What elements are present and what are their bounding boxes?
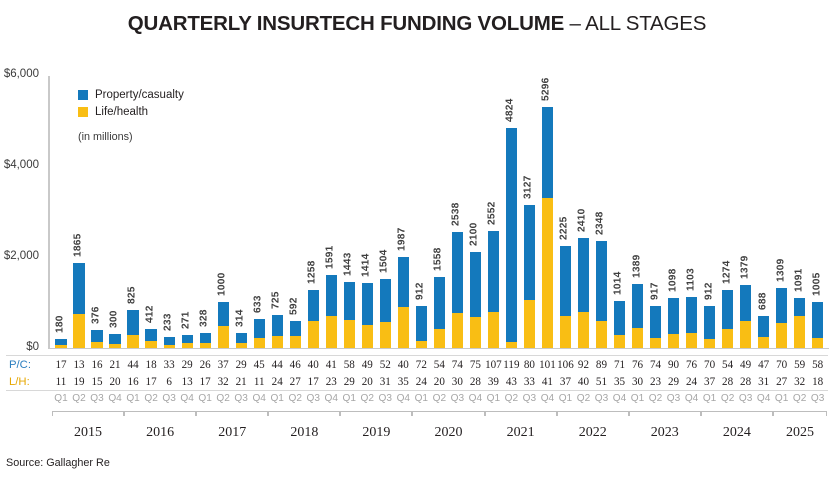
year-group: 2017: [196, 411, 268, 445]
deal-count-cell-lh: 35: [610, 376, 628, 388]
bar-slot[interactable]: 2225: [556, 77, 574, 348]
deal-count-cell-lh: 40: [574, 376, 592, 388]
stacked-bar[interactable]: 328: [200, 333, 211, 348]
bar-slot[interactable]: 314: [232, 77, 250, 348]
bar-segment-life-health[interactable]: [740, 321, 751, 347]
bar-segment-property-casualty[interactable]: [434, 277, 445, 329]
bar-slot[interactable]: 2410: [574, 77, 592, 348]
deal-count-cell-pc: 119: [502, 359, 520, 371]
quarter-tick-label: Q1: [412, 393, 430, 404]
stacked-bar[interactable]: 1379: [740, 285, 751, 348]
bar-segment-life-health[interactable]: [812, 338, 823, 348]
quarter-tick-label: Q2: [647, 393, 665, 404]
year-label: 2024: [723, 425, 751, 445]
quarter-tick-label: Q4: [538, 393, 556, 404]
bar-segment-life-health[interactable]: [794, 316, 805, 347]
bar-segment-life-health[interactable]: [416, 341, 427, 348]
stacked-bar[interactable]: 688: [758, 316, 769, 347]
bar-slot[interactable]: 1987: [394, 77, 412, 348]
legend-item-property-casualty: Property/casualty: [78, 86, 184, 103]
deal-count-cell-pc: 37: [214, 359, 232, 371]
bar-value-label: 1591: [325, 246, 336, 269]
bar-segment-life-health[interactable]: [127, 335, 138, 347]
bar-segment-life-health[interactable]: [722, 329, 733, 347]
deal-count-cell-pc: 45: [250, 359, 268, 371]
bar-slot[interactable]: 1309: [773, 77, 791, 348]
deal-count-cell-lh: 30: [629, 376, 647, 388]
stacked-bar[interactable]: 1389: [632, 284, 643, 347]
bar-segment-property-casualty[interactable]: [416, 306, 427, 341]
bar-slot[interactable]: 2538: [448, 77, 466, 348]
legend-item-life-health: Life/health: [78, 103, 184, 120]
quarter-tick-label: Q3: [232, 393, 250, 404]
deal-count-cell-pc: 18: [142, 359, 160, 371]
deal-count-cell-lh: 18: [809, 376, 827, 388]
stacked-bar[interactable]: 1091: [794, 298, 805, 348]
bar-segment-life-health[interactable]: [650, 338, 661, 348]
bar-segment-property-casualty[interactable]: [722, 290, 733, 330]
stacked-bar[interactable]: 3127: [524, 205, 535, 347]
y-tick-label: $4,000: [0, 159, 39, 171]
deal-count-cell-lh: 33: [520, 376, 538, 388]
bar-segment-life-health[interactable]: [632, 328, 643, 348]
stacked-bar[interactable]: 4824: [506, 128, 517, 347]
quarter-tick-label: Q3: [160, 393, 178, 404]
year-label: 2015: [74, 425, 102, 445]
bar-slot[interactable]: 5296: [538, 77, 556, 348]
bar-segment-life-health[interactable]: [578, 312, 589, 347]
bar-value-label: 1098: [667, 268, 678, 291]
year-label: 2023: [651, 425, 679, 445]
bar-segment-life-health[interactable]: [434, 329, 445, 348]
bar-segment-life-health[interactable]: [272, 336, 283, 347]
bar-segment-life-health[interactable]: [524, 300, 535, 347]
year-label: 2022: [579, 425, 607, 445]
stacked-bar[interactable]: 300: [109, 334, 120, 348]
bar-segment-property-casualty[interactable]: [145, 329, 156, 341]
bar-segment-property-casualty[interactable]: [812, 302, 823, 338]
bar-value-label: 1091: [793, 268, 804, 291]
bar-segment-property-casualty[interactable]: [506, 128, 517, 342]
y-axis-line: [48, 76, 50, 349]
deal-count-cell-pc: 71: [610, 359, 628, 371]
bar-segment-life-health[interactable]: [236, 343, 247, 348]
bar-slot[interactable]: 1414: [358, 77, 376, 348]
bar-segment-life-health[interactable]: [164, 345, 175, 348]
stacked-bar[interactable]: 2552: [488, 231, 499, 347]
bar-segment-life-health[interactable]: [398, 307, 409, 347]
bar-segment-property-casualty[interactable]: [794, 298, 805, 316]
deal-count-cell-pc: 46: [286, 359, 304, 371]
deal-count-cell-pc: 58: [809, 359, 827, 371]
quarter-tick-label: Q4: [466, 393, 484, 404]
bar-segment-property-casualty[interactable]: [236, 333, 247, 343]
bar-segment-life-health[interactable]: [55, 345, 66, 348]
bar-segment-property-casualty[interactable]: [272, 315, 283, 337]
quarter-tick-label: Q2: [502, 393, 520, 404]
bar-segment-property-casualty[interactable]: [704, 306, 715, 339]
bar-segment-property-casualty[interactable]: [632, 284, 643, 328]
bar-value-label: 1005: [811, 272, 822, 295]
title-light: ALL STAGES: [585, 12, 706, 35]
bar-segment-life-health[interactable]: [200, 343, 211, 347]
stacked-bar[interactable]: 1591: [326, 275, 337, 347]
bar-segment-property-casualty[interactable]: [668, 298, 679, 335]
bar-segment-life-health[interactable]: [776, 323, 787, 347]
stacked-bar[interactable]: 1258: [308, 290, 319, 347]
bar-segment-life-health[interactable]: [91, 342, 102, 347]
bar-value-label: 1414: [361, 254, 372, 277]
bar-slot[interactable]: 1389: [629, 77, 647, 348]
stacked-bar[interactable]: 912: [704, 306, 715, 347]
deal-count-cell-pc: 59: [791, 359, 809, 371]
bar-slot[interactable]: 3127: [520, 77, 538, 348]
stacked-bar[interactable]: 1558: [434, 277, 445, 348]
bar-value-label: 1103: [685, 268, 696, 291]
row-label-pc: P/C:: [9, 359, 53, 371]
page-title: QUARTERLY INSURTECH FUNDING VOLUME – ALL…: [0, 12, 834, 36]
deal-count-cell-pc: 49: [737, 359, 755, 371]
bar-value-label: 4824: [505, 99, 516, 122]
deal-count-cell-lh: 30: [448, 376, 466, 388]
bar-slot[interactable]: 917: [647, 77, 665, 348]
bar-segment-property-casualty[interactable]: [109, 334, 120, 344]
bar-slot[interactable]: 4824: [502, 77, 520, 348]
bar-slot[interactable]: 2348: [592, 77, 610, 348]
bar-segment-property-casualty[interactable]: [452, 232, 463, 313]
bar-segment-life-health[interactable]: [596, 321, 607, 348]
x-axis-quarter-labels: Q1Q2Q3Q4Q1Q2Q3Q4Q1Q2Q3Q4Q1Q2Q3Q4Q1Q2Q3Q4…: [52, 393, 827, 404]
bar-segment-life-health[interactable]: [614, 335, 625, 348]
bar-value-label: 2552: [487, 202, 498, 225]
bar-segment-property-casualty[interactable]: [614, 301, 625, 334]
x-axis-baseline: [48, 348, 829, 350]
quarter-tick-label: Q2: [214, 393, 232, 404]
bar-slot[interactable]: 2552: [484, 77, 502, 348]
bar-segment-property-casualty[interactable]: [686, 297, 697, 333]
bar-slot[interactable]: 1504: [376, 77, 394, 348]
bar-slot[interactable]: 1258: [304, 77, 322, 348]
deal-count-cell-pc: 76: [683, 359, 701, 371]
stacked-bar[interactable]: 412: [145, 329, 156, 348]
stacked-bar[interactable]: 1309: [776, 288, 787, 348]
bar-segment-property-casualty[interactable]: [380, 279, 391, 322]
bar-segment-property-casualty[interactable]: [164, 337, 175, 345]
bar-value-label: 1000: [217, 273, 228, 296]
deal-count-cell-pc: 40: [304, 359, 322, 371]
bar-slot[interactable]: 725: [268, 77, 286, 348]
deal-count-cell-lh: 6: [160, 376, 178, 388]
deal-count-cell-pc: 16: [88, 359, 106, 371]
stacked-bar[interactable]: 180: [55, 339, 66, 347]
deal-count-cell-lh: 28: [719, 376, 737, 388]
quarter-tick-label: Q2: [430, 393, 448, 404]
title-bold: QUARTERLY INSURTECH FUNDING VOLUME: [128, 12, 564, 35]
bar-segment-property-casualty[interactable]: [488, 231, 499, 312]
bar-segment-property-casualty[interactable]: [73, 263, 84, 314]
bar-slot[interactable]: 633: [250, 77, 268, 348]
bar-segment-property-casualty[interactable]: [127, 310, 138, 335]
title-dash: –: [564, 12, 585, 35]
stacked-bar[interactable]: 2100: [470, 252, 481, 348]
bar-segment-life-health[interactable]: [254, 338, 265, 348]
bar-segment-life-health[interactable]: [542, 198, 553, 348]
legend-swatch-blue-icon: [78, 90, 88, 100]
bar-segment-property-casualty[interactable]: [542, 107, 553, 198]
deal-count-cell-pc: 47: [755, 359, 773, 371]
quarter-tick-label: Q1: [556, 393, 574, 404]
bar-segment-property-casualty[interactable]: [560, 246, 571, 316]
source-note: Source: Gallagher Re: [6, 457, 110, 469]
quarter-tick-label: Q2: [719, 393, 737, 404]
stacked-bar[interactable]: 2410: [578, 238, 589, 348]
bar-segment-property-casualty[interactable]: [200, 333, 211, 344]
quarter-tick-label: Q4: [178, 393, 196, 404]
bar-value-label: 2410: [577, 208, 588, 231]
bar-value-label: 825: [127, 286, 138, 304]
stacked-bar[interactable]: 912: [416, 306, 427, 347]
stacked-bar[interactable]: 2538: [452, 232, 463, 347]
bar-segment-property-casualty[interactable]: [578, 238, 589, 313]
deal-count-cell-pc: 90: [665, 359, 683, 371]
stacked-bar[interactable]: 233: [164, 337, 175, 348]
bar-segment-life-health[interactable]: [704, 339, 715, 348]
bar-segment-life-health[interactable]: [452, 313, 463, 347]
deal-count-cell-pc: 75: [466, 359, 484, 371]
stacked-bar[interactable]: 1014: [614, 301, 625, 347]
bar-slot[interactable]: 592: [286, 77, 304, 348]
stacked-bar[interactable]: 1443: [344, 282, 355, 348]
stacked-bar[interactable]: 5296: [542, 107, 553, 348]
bar-value-label: 2538: [451, 203, 462, 226]
bar-value-label: 376: [91, 307, 102, 325]
deal-count-cell-pc: 33: [160, 359, 178, 371]
bar-segment-property-casualty[interactable]: [758, 316, 769, 337]
bar-segment-life-health[interactable]: [506, 342, 517, 347]
bar-segment-life-health[interactable]: [308, 321, 319, 347]
stacked-bar[interactable]: 725: [272, 315, 283, 348]
deal-count-cell-lh: 24: [683, 376, 701, 388]
bar-segment-property-casualty[interactable]: [362, 283, 373, 325]
stacked-bar[interactable]: 1005: [812, 302, 823, 348]
bar-value-label: 1389: [631, 255, 642, 278]
year-label: 2017: [218, 425, 246, 445]
quarter-tick-label: Q2: [791, 393, 809, 404]
deal-count-cell-lh: 17: [142, 376, 160, 388]
bar-segment-life-health[interactable]: [362, 325, 373, 347]
deal-count-cell-lh: 15: [88, 376, 106, 388]
bar-value-label: 2348: [595, 211, 606, 234]
deal-count-cell-pc: 21: [106, 359, 124, 371]
bar-segment-property-casualty[interactable]: [740, 285, 751, 321]
quarter-tick-label: Q4: [322, 393, 340, 404]
quarter-tick-label: Q3: [809, 393, 827, 404]
stacked-bar[interactable]: 1865: [73, 263, 84, 348]
stacked-bar[interactable]: 2348: [596, 241, 607, 348]
deal-count-cell-lh: 32: [791, 376, 809, 388]
year-label: 2019: [362, 425, 390, 445]
row-cells-lh: 1119152016176131732211124271723292031352…: [52, 376, 827, 388]
bar-segment-property-casualty[interactable]: [344, 282, 355, 320]
bar-slot[interactable]: 912: [701, 77, 719, 348]
bar-slot[interactable]: 1379: [737, 77, 755, 348]
bar-segment-property-casualty[interactable]: [91, 330, 102, 342]
bar-segment-life-health[interactable]: [758, 337, 769, 347]
bar-segment-property-casualty[interactable]: [254, 319, 265, 338]
table-row-life-health: L/H: 11191520161761317322111242717232920…: [0, 373, 834, 390]
deal-count-cell-pc: 44: [268, 359, 286, 371]
bar-segment-life-health[interactable]: [380, 322, 391, 347]
bar-segment-life-health[interactable]: [218, 326, 229, 347]
bar-segment-life-health[interactable]: [488, 312, 499, 348]
deal-count-cell-lh: 24: [412, 376, 430, 388]
bar-segment-property-casualty[interactable]: [326, 275, 337, 315]
stacked-bar[interactable]: 314: [236, 333, 247, 347]
deal-count-cell-pc: 17: [52, 359, 70, 371]
bar-value-label: 633: [253, 295, 264, 313]
stacked-bar[interactable]: 1103: [686, 297, 697, 347]
bar-value-label: 300: [109, 310, 120, 328]
bar-segment-property-casualty[interactable]: [596, 241, 607, 321]
bar-slot[interactable]: 1591: [322, 77, 340, 348]
stacked-bar[interactable]: 1098: [668, 298, 679, 348]
bar-segment-life-health[interactable]: [344, 320, 355, 347]
bar-slot[interactable]: 1103: [683, 77, 701, 348]
quarter-tick-label: Q3: [376, 393, 394, 404]
deal-count-cell-pc: 92: [574, 359, 592, 371]
quarter-tick-label: Q3: [448, 393, 466, 404]
bar-segment-life-health[interactable]: [73, 314, 84, 348]
bar-value-label: 725: [271, 291, 282, 309]
quarter-tick-label: Q2: [286, 393, 304, 404]
quarter-tick-label: Q2: [70, 393, 88, 404]
bar-segment-life-health[interactable]: [686, 333, 697, 347]
deal-count-cell-lh: 11: [52, 376, 70, 388]
stacked-bar[interactable]: 633: [254, 319, 265, 348]
deal-count-cell-lh: 23: [322, 376, 340, 388]
chart-page: QUARTERLY INSURTECH FUNDING VOLUME – ALL…: [0, 0, 834, 480]
bar-slot[interactable]: 328: [196, 77, 214, 348]
year-group: 2016: [124, 411, 196, 445]
bar-segment-property-casualty[interactable]: [182, 335, 193, 343]
deal-count-cell-lh: 24: [268, 376, 286, 388]
bar-slot[interactable]: 1000: [214, 77, 232, 348]
deal-count-cell-pc: 52: [376, 359, 394, 371]
deal-count-cell-lh: 17: [304, 376, 322, 388]
units-note: (in millions): [78, 131, 184, 143]
bar-segment-life-health[interactable]: [182, 343, 193, 347]
stacked-bar[interactable]: 825: [127, 310, 138, 348]
deal-count-cell-lh: 27: [773, 376, 791, 388]
deal-count-cell-lh: 20: [430, 376, 448, 388]
bar-segment-property-casualty[interactable]: [398, 257, 409, 307]
quarter-tick-label: Q3: [88, 393, 106, 404]
bar-slot[interactable]: 1558: [430, 77, 448, 348]
stacked-bar[interactable]: 1987: [398, 257, 409, 347]
quarter-tick-label: Q2: [142, 393, 160, 404]
deal-count-cell-lh: 23: [647, 376, 665, 388]
bar-segment-property-casualty[interactable]: [218, 302, 229, 326]
bar-slot[interactable]: 1091: [791, 77, 809, 348]
quarter-tick-label: Q3: [520, 393, 538, 404]
quarter-tick-label: Q1: [52, 393, 70, 404]
deal-count-table: P/C: 17131621441833292637294544464041584…: [0, 356, 834, 392]
bar-slot[interactable]: 1014: [610, 77, 628, 348]
bar-value-label: 917: [649, 282, 660, 300]
deal-count-cell-pc: 76: [629, 359, 647, 371]
bar-slot[interactable]: 1443: [340, 77, 358, 348]
bar-slot[interactable]: 912: [412, 77, 430, 348]
bar-value-label: 688: [757, 293, 768, 311]
legend-label-life-health: Life/health: [95, 106, 148, 118]
deal-count-cell-pc: 72: [412, 359, 430, 371]
bar-segment-property-casualty[interactable]: [650, 306, 661, 338]
bar-segment-property-casualty[interactable]: [470, 252, 481, 318]
stacked-bar[interactable]: 917: [650, 306, 661, 348]
stacked-bar[interactable]: 376: [91, 330, 102, 347]
bar-slot[interactable]: 1274: [719, 77, 737, 348]
table-row-property-casualty: P/C: 17131621441833292637294544464041584…: [0, 356, 834, 373]
bar-slot[interactable]: 1098: [665, 77, 683, 348]
bar-segment-property-casualty[interactable]: [308, 290, 319, 321]
bar-segment-property-casualty[interactable]: [776, 288, 787, 323]
bar-segment-life-health[interactable]: [290, 336, 301, 348]
stacked-bar[interactable]: 1504: [380, 279, 391, 347]
x-axis-year-groups: 2015201620172018201920202021202220232024…: [52, 411, 827, 445]
year-group: 2021: [485, 411, 557, 445]
year-group: 2024: [701, 411, 773, 445]
stacked-bar[interactable]: 1414: [362, 283, 373, 347]
bar-value-label: 1309: [775, 258, 786, 281]
deal-count-cell-lh: 28: [737, 376, 755, 388]
deal-count-cell-lh: 19: [70, 376, 88, 388]
year-group: 2015: [52, 411, 124, 445]
stacked-bar[interactable]: 2225: [560, 246, 571, 347]
bar-slot[interactable]: 688: [755, 77, 773, 348]
deal-count-cell-pc: 106: [556, 359, 574, 371]
bar-segment-property-casualty[interactable]: [524, 205, 535, 300]
bar-value-label: 5296: [541, 77, 552, 100]
quarter-tick-label: Q3: [737, 393, 755, 404]
stacked-bar[interactable]: 1000: [218, 302, 229, 348]
bar-segment-life-health[interactable]: [560, 316, 571, 347]
bar-segment-life-health[interactable]: [109, 344, 120, 347]
bar-segment-life-health[interactable]: [668, 334, 679, 347]
deal-count-cell-lh: 28: [466, 376, 484, 388]
deal-count-cell-pc: 49: [358, 359, 376, 371]
bar-slot[interactable]: 1005: [809, 77, 827, 348]
bar-slot[interactable]: 2100: [466, 77, 484, 348]
deal-count-cell-pc: 74: [647, 359, 665, 371]
quarter-tick-label: Q3: [665, 393, 683, 404]
bar-segment-life-health[interactable]: [470, 317, 481, 347]
bar-segment-property-casualty[interactable]: [290, 321, 301, 336]
bar-slot[interactable]: 180: [52, 77, 70, 348]
bar-segment-life-health[interactable]: [145, 341, 156, 348]
stacked-bar[interactable]: 271: [182, 335, 193, 347]
row-label-lh: L/H:: [9, 376, 53, 388]
quarter-tick-label: Q1: [629, 393, 647, 404]
year-label: 2016: [146, 425, 174, 445]
stacked-bar[interactable]: 592: [290, 321, 301, 348]
year-group: 2019: [340, 411, 412, 445]
deal-count-cell-pc: 54: [719, 359, 737, 371]
bar-segment-life-health[interactable]: [326, 316, 337, 348]
bar-value-label: 233: [163, 313, 174, 331]
y-tick-label: $2,000: [0, 250, 39, 262]
y-tick-label: $0: [0, 341, 39, 353]
stacked-bar[interactable]: 1274: [722, 290, 733, 348]
